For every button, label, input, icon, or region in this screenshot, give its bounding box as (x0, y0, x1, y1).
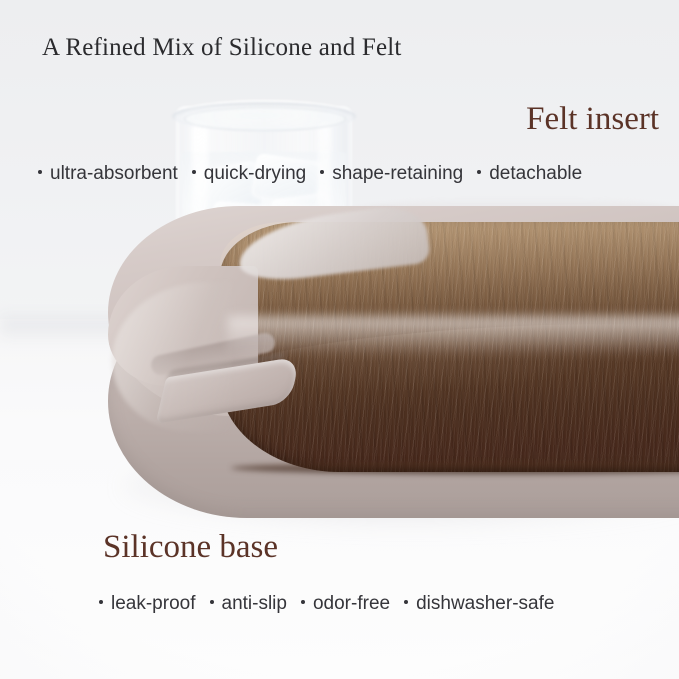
bullet-dot-icon (210, 600, 214, 604)
heading-silicone-base: Silicone base (103, 529, 278, 566)
bullet-dot-icon (477, 170, 481, 174)
list-item-label: odor-free (313, 593, 390, 615)
list-item-label: dishwasher-safe (416, 593, 554, 615)
bullet-dot-icon (192, 170, 196, 174)
list-item-label: ultra-absorbent (50, 163, 178, 185)
heading-felt-insert: Felt insert (526, 101, 659, 138)
bullet-dot-icon (301, 600, 305, 604)
list-item: detachable (477, 163, 582, 185)
bullet-dot-icon (99, 600, 103, 604)
feature-list-silicone-base: leak-proof anti-slip odor-free dishwashe… (99, 593, 554, 615)
list-item-label: anti-slip (222, 593, 287, 615)
list-item-label: shape-retaining (332, 163, 463, 185)
list-item-label: detachable (489, 163, 582, 185)
product-feature-image: A Refined Mix of Silicone and Felt Felt … (0, 0, 679, 679)
list-item: shape-retaining (320, 163, 463, 185)
list-item-label: leak-proof (111, 593, 196, 615)
bullet-dot-icon (320, 170, 324, 174)
bullet-dot-icon (38, 170, 42, 174)
list-item: quick-drying (192, 163, 306, 185)
list-item: odor-free (301, 593, 390, 615)
page-title: A Refined Mix of Silicone and Felt (42, 34, 402, 62)
feature-list-felt-insert: ultra-absorbent quick-drying shape-retai… (38, 163, 582, 185)
list-item-label: quick-drying (204, 163, 306, 185)
list-item: dishwasher-safe (404, 593, 554, 615)
list-item: anti-slip (210, 593, 287, 615)
list-item: leak-proof (99, 593, 196, 615)
bullet-dot-icon (404, 600, 408, 604)
list-item: ultra-absorbent (38, 163, 178, 185)
